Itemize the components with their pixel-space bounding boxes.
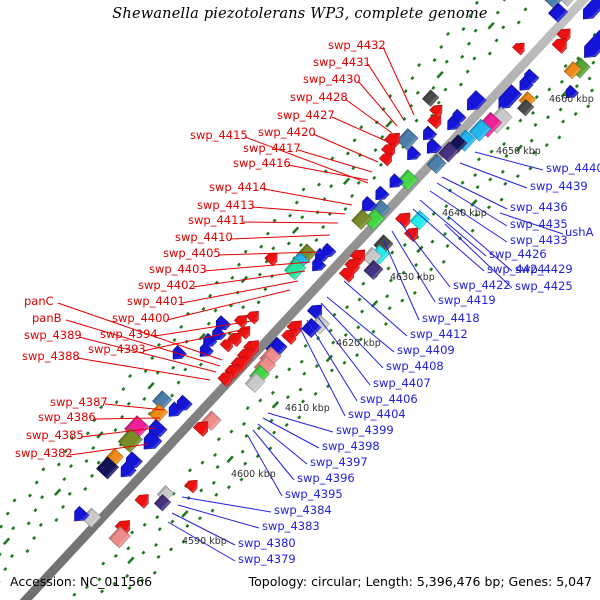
gene-label[interactable]: swp_4432 xyxy=(328,40,386,52)
scale-marker-label: 4650 kbp xyxy=(496,147,541,157)
gene-label[interactable]: swp_4440 xyxy=(546,163,600,175)
scale-marker-label: 4640 kbp xyxy=(442,209,487,219)
gene-label[interactable]: swp_4430 xyxy=(303,74,361,86)
gene-label[interactable]: swp_4386 xyxy=(38,412,96,424)
gene-label[interactable]: swp_4411 xyxy=(188,215,246,227)
gene-label[interactable]: swp_4405 xyxy=(163,248,221,260)
gene-glyph xyxy=(135,490,153,508)
scale-marker-label: 4660 kbp xyxy=(549,95,594,105)
gene-label[interactable]: swp_4389 xyxy=(24,330,82,342)
gene-label[interactable]: swp_4400 xyxy=(112,313,170,325)
gene-label[interactable]: swp_4385 xyxy=(26,430,84,442)
gene-glyph xyxy=(386,174,404,192)
gene-label[interactable]: swp_4406 xyxy=(360,394,418,406)
gene-label[interactable]: swp_4396 xyxy=(297,473,355,485)
gene-glyph xyxy=(579,30,600,62)
gene-label[interactable]: swp_4422 xyxy=(453,280,511,292)
gene-glyph xyxy=(423,90,439,106)
genome-map-viewer: Shewanella piezotolerans WP3, complete g… xyxy=(0,0,600,600)
gene-label[interactable]: swp_4412 xyxy=(410,329,468,341)
gene-label[interactable]: swp_4393 xyxy=(88,344,146,356)
gene-label[interactable]: swp_4382 xyxy=(15,448,73,460)
gene-label[interactable]: swp_4404 xyxy=(348,409,406,421)
gene-label[interactable]: swp_4425 xyxy=(515,281,573,293)
gene-label[interactable]: swp_4397 xyxy=(310,457,368,469)
gene-glyph xyxy=(513,39,529,55)
genome-stats-text: Topology: circular; Length: 5,396,476 bp… xyxy=(249,574,592,589)
gene-label[interactable]: swp_4402 xyxy=(138,280,196,292)
gene-label[interactable]: swp_4383 xyxy=(262,521,320,533)
gene-label[interactable]: swp_4418 xyxy=(422,313,480,325)
gene-label[interactable]: panB xyxy=(32,313,62,325)
gene-label[interactable]: swp_4407 xyxy=(373,378,431,390)
accession-text: Accession: NC_011566 xyxy=(10,574,152,589)
gene-glyph xyxy=(396,209,415,228)
gene-label[interactable]: swp_4387 xyxy=(50,397,108,409)
gene-label[interactable]: swp_4439 xyxy=(530,181,588,193)
gene-label[interactable]: swp_4435 xyxy=(510,219,568,231)
gene-label[interactable]: swp_4419 xyxy=(438,295,496,307)
gene-label[interactable]: swp_4417 xyxy=(243,143,301,155)
gene-label[interactable]: swp_4410 xyxy=(175,232,233,244)
gene-label[interactable]: swp_4414 xyxy=(209,182,267,194)
gene-label[interactable]: ushA xyxy=(565,227,593,239)
gene-glyph xyxy=(397,129,418,150)
gene-glyph xyxy=(265,249,281,265)
scale-marker-label: 4620 kbp xyxy=(336,339,381,349)
gene-label[interactable]: swp_4380 xyxy=(238,538,296,550)
gene-glyph xyxy=(307,301,326,320)
gene-label[interactable]: swp_4431 xyxy=(313,57,371,69)
scale-marker-label: 4610 kbp xyxy=(285,404,330,414)
gene-label[interactable]: swp_4384 xyxy=(274,505,332,517)
gene-label[interactable]: swp_4401 xyxy=(127,296,185,308)
gene-label[interactable]: swp_4394 xyxy=(100,329,158,341)
gene-label[interactable]: swp_4416 xyxy=(233,158,291,170)
gene-label[interactable]: swp_4388 xyxy=(22,351,80,363)
gene-label[interactable]: swp_4413 xyxy=(197,200,255,212)
gene-label[interactable]: swp_4399 xyxy=(336,425,394,437)
gene-label[interactable]: swp_4395 xyxy=(285,489,343,501)
scale-marker-label: 4630 kbp xyxy=(390,273,435,283)
gene-label[interactable]: swp_4436 xyxy=(510,202,568,214)
gene-label[interactable]: swp_4433 xyxy=(510,235,568,247)
gene-glyph xyxy=(185,477,201,493)
gene-label[interactable]: swp_4426 xyxy=(489,249,547,261)
gene-label[interactable]: swp_4403 xyxy=(149,264,207,276)
gene-label[interactable]: swp_4379 xyxy=(238,554,296,566)
gene-label[interactable]: swp_4415 xyxy=(190,130,248,142)
gene-label[interactable]: swp_4408 xyxy=(386,361,444,373)
gene-label[interactable]: swp_4428 xyxy=(290,92,348,104)
gene-label[interactable]: swp_4427 xyxy=(277,110,335,122)
gene-label[interactable]: swp_4409 xyxy=(397,345,455,357)
gene-label[interactable]: swp_4420 xyxy=(258,127,316,139)
gene-label[interactable]: panC xyxy=(24,296,54,308)
scale-marker-label: 4590 kbp xyxy=(182,537,227,547)
gene-label[interactable]: swp_4429 xyxy=(515,264,573,276)
gene-label[interactable]: swp_4398 xyxy=(322,441,380,453)
scale-marker-label: 4600 kbp xyxy=(231,470,276,480)
